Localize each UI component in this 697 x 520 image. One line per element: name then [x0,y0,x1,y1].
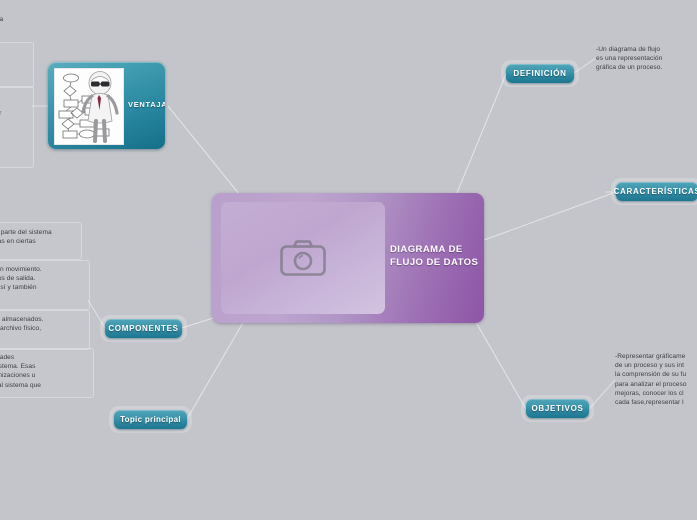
note-frame-ventajas-a [0,42,34,88]
note-top-fragment: la [0,15,3,24]
note-definicion: -Un diagrama de flujo es una representac… [596,45,662,73]
connector-to-objetivos [470,312,526,409]
node-ventajas-label: VENTAJAS [128,100,165,109]
node-componentes[interactable]: COMPONENTES [105,319,182,338]
note-componentes-4: tan entidades con el sistema. Esas as, o… [0,353,41,390]
note-frame-ventajas-b [0,86,34,168]
flowchart-figure-icon [55,69,123,144]
node-caracteristicas-label: CARACTERÍSTICAS [614,187,697,196]
node-ventajas[interactable]: VENTAJAS [48,62,165,149]
connector-to-ventajas [168,106,248,205]
node-objetivos-label: OBJETIVOS [531,404,583,413]
mindmap-canvas[interactable]: DIAGRAMA DE FLUJO DE DATOS [0,0,697,520]
node-caracteristicas[interactable]: CARACTERÍSTICAS [616,182,697,201]
node-topic-principal[interactable]: Topic principal [114,410,187,429]
node-componentes-label: COMPONENTES [108,324,178,333]
node-definicion[interactable]: DEFINICIÓN [506,64,574,83]
central-topic-title: DIAGRAMA DE FLUJO DE DATOS [390,243,482,269]
camera-icon [279,238,327,278]
node-topic-principal-label: Topic principal [120,415,181,424]
connector-to-topic [187,314,248,419]
node-definicion-label: DEFINICIÓN [513,69,566,78]
note-componentes-1: a la parte del sistema radas en ciertas [0,228,52,246]
connector-to-caracteristicas [484,192,616,240]
central-topic-image-placeholder[interactable] [221,202,385,314]
node-ventajas-image[interactable] [54,68,124,145]
note-objetivos: -Representar gráficame de un proceso y s… [615,352,687,407]
connector-to-definicion [452,74,506,205]
node-objetivos[interactable]: OBJETIVOS [526,399,589,418]
note-componentes-2: datos en movimiento. a o flujos de salid… [0,265,42,293]
note-ventajas-1: e oder y [0,100,1,128]
central-topic-node[interactable]: DIAGRAMA DE FLUJO DE DATOS [212,193,484,323]
note-componentes-3: n datos almacenados. tos, un archivo fís… [0,315,44,333]
